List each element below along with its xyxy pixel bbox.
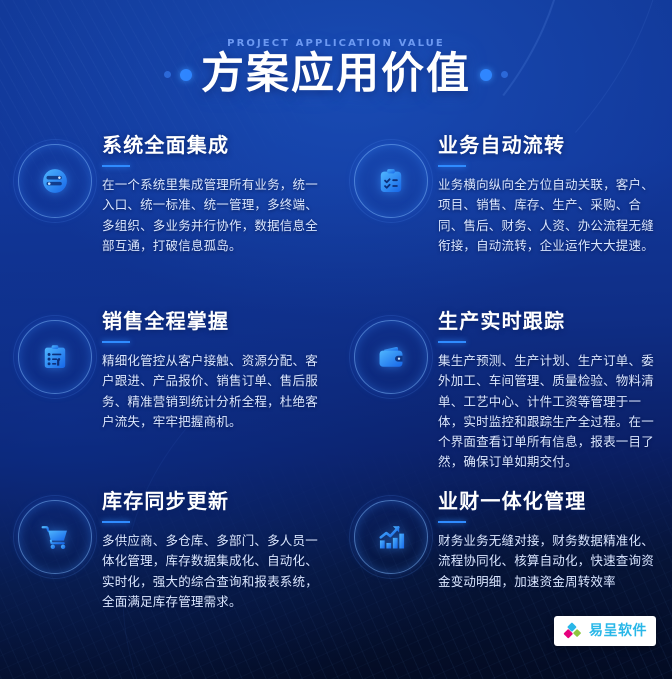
page-title: 方案应用价值	[201, 53, 471, 96]
pinwheel-diamond-logo-icon	[563, 621, 583, 641]
icon-ring-5	[18, 500, 92, 574]
card-text-3: 销售全程掌握 精细化管控从客户接触、资源分配、客户跟进、产品报价、销售订单、售后…	[92, 304, 322, 468]
eyebrow-text: PROJECT APPLICATION VALUE	[0, 38, 672, 49]
value-card-inventory-sync[interactable]: 库存同步更新 多供应商、多仓库、多部门、多人员一体化管理，库存数据集成化、自动化…	[0, 476, 336, 626]
card-title: 业务自动流转	[438, 134, 658, 156]
card-row-1: 系统全面集成 在一个系统里集成管理所有业务，统一入口、统一标准、统一管理，多终端…	[0, 120, 672, 296]
card-text-4: 生产实时跟踪 集生产预测、生产计划、生产订单、委外加工、车间管理、质量检验、物料…	[428, 304, 658, 468]
icon-ring-1	[18, 144, 92, 218]
card-divider	[102, 521, 130, 523]
poster-canvas: PROJECT APPLICATION VALUE 方案应用价值	[0, 0, 672, 679]
bar-chart-trend-icon	[371, 517, 411, 557]
value-card-production-tracking[interactable]: 生产实时跟踪 集生产预测、生产计划、生产订单、委外加工、车间管理、质量检验、物料…	[336, 296, 672, 476]
value-card-grid: 系统全面集成 在一个系统里集成管理所有业务，统一入口、统一标准、统一管理，多终端…	[0, 120, 672, 626]
value-card-business-automation[interactable]: 业务自动流转 业务横向纵向全方位自动关联，客户、项目、销售、库存、生产、采购、合…	[336, 120, 672, 296]
icon-ring-3	[18, 320, 92, 394]
card-body: 在一个系统里集成管理所有业务，统一入口、统一标准、统一管理，多终端、多组织、多业…	[102, 175, 322, 256]
card-divider	[438, 341, 466, 343]
title-row: 方案应用价值	[0, 53, 672, 96]
card-title: 生产实时跟踪	[438, 310, 658, 332]
shopping-cart-icon	[35, 517, 75, 557]
clipboard-check-icon	[371, 161, 411, 201]
card-row-2: 销售全程掌握 精细化管控从客户接触、资源分配、客户跟进、产品报价、销售订单、售后…	[0, 296, 672, 476]
title-dot-right-small	[501, 71, 508, 78]
card-title: 销售全程掌握	[102, 310, 322, 332]
icon-ring-6	[354, 500, 428, 574]
card-body: 财务业务无缝对接，财务数据精准化、流程协同化、核算自动化，快速查询资金变动明细，…	[438, 531, 658, 592]
value-card-finance-integration[interactable]: 业财一体化管理 财务业务无缝对接，财务数据精准化、流程协同化、核算自动化，快速查…	[336, 476, 672, 626]
card-title: 系统全面集成	[102, 134, 322, 156]
sliders-icon	[35, 161, 75, 201]
card-body: 业务横向纵向全方位自动关联，客户、项目、销售、库存、生产、采购、合同、售后、财务…	[438, 175, 658, 256]
title-dot-left-large	[180, 69, 192, 81]
title-dot-right-large	[480, 69, 492, 81]
title-dot-left-small	[164, 71, 171, 78]
card-body: 集生产预测、生产计划、生产订单、委外加工、车间管理、质量检验、物料清单、工艺中心…	[438, 351, 658, 473]
card-divider	[438, 165, 466, 167]
page-header: PROJECT APPLICATION VALUE 方案应用价值	[0, 38, 672, 96]
card-text-6: 业财一体化管理 财务业务无缝对接，财务数据精准化、流程协同化、核算自动化，快速查…	[428, 484, 658, 618]
brand-logo-text: 易呈软件	[589, 624, 647, 638]
icon-ring-4	[354, 320, 428, 394]
card-body: 多供应商、多仓库、多部门、多人员一体化管理，库存数据集成化、自动化、实时化，强大…	[102, 531, 322, 612]
value-card-system-integration[interactable]: 系统全面集成 在一个系统里集成管理所有业务，统一入口、统一标准、统一管理，多终端…	[0, 120, 336, 296]
card-text-2: 业务自动流转 业务横向纵向全方位自动关联，客户、项目、销售、库存、生产、采购、合…	[428, 128, 658, 288]
clipboard-wrench-icon	[35, 337, 75, 377]
card-text-1: 系统全面集成 在一个系统里集成管理所有业务，统一入口、统一标准、统一管理，多终端…	[92, 128, 322, 288]
wallet-icon	[371, 337, 411, 377]
card-title: 库存同步更新	[102, 490, 322, 512]
icon-ring-2	[354, 144, 428, 218]
value-card-sales-control[interactable]: 销售全程掌握 精细化管控从客户接触、资源分配、客户跟进、产品报价、销售订单、售后…	[0, 296, 336, 476]
card-divider	[102, 341, 130, 343]
card-text-5: 库存同步更新 多供应商、多仓库、多部门、多人员一体化管理，库存数据集成化、自动化…	[92, 484, 322, 618]
card-divider	[438, 521, 466, 523]
card-body: 精细化管控从客户接触、资源分配、客户跟进、产品报价、销售订单、售后服务、精准营销…	[102, 351, 322, 432]
card-title: 业财一体化管理	[438, 490, 658, 512]
card-row-3: 库存同步更新 多供应商、多仓库、多部门、多人员一体化管理，库存数据集成化、自动化…	[0, 476, 672, 626]
card-divider	[102, 165, 130, 167]
brand-logo[interactable]: 易呈软件	[554, 616, 656, 646]
